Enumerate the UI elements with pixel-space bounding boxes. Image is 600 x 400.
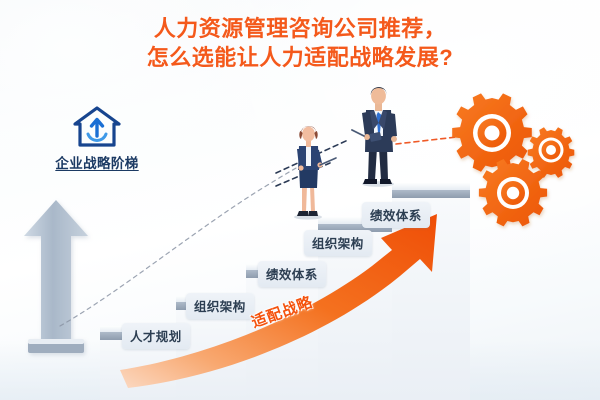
infographic-canvas: 人力资源管理咨询公司推荐， 怎么选能让人力适配战略发展? 企业战略阶梯 人才规划… — [0, 0, 600, 400]
strategy-ladder-badge: 企业战略阶梯 — [36, 104, 158, 172]
step-label-2: 组织架构 — [186, 293, 254, 319]
gear-large-icon — [452, 93, 532, 171]
growth-arrow-vertical — [24, 200, 88, 353]
step-label-4: 组织架构 — [304, 230, 372, 256]
gear-medium-icon — [479, 159, 547, 226]
title-line-2: 怎么选能让人力适配战略发展? — [0, 43, 600, 72]
strategy-ladder-label: 企业战略阶梯 — [36, 152, 158, 172]
title-line-1: 人力资源管理咨询公司推荐， — [0, 14, 600, 43]
step-label-1: 人才规划 — [122, 323, 190, 349]
gears-cluster — [452, 93, 574, 226]
figure-businessman — [352, 87, 397, 187]
step-label-3: 绩效体系 — [258, 261, 326, 287]
house-up-arrow-icon — [71, 104, 123, 148]
figure-businesswoman — [294, 126, 336, 220]
gear-small-icon — [528, 127, 575, 178]
step-label-5: 绩效体系 — [362, 202, 430, 228]
page-title: 人力资源管理咨询公司推荐， 怎么选能让人力适配战略发展? — [0, 14, 600, 73]
